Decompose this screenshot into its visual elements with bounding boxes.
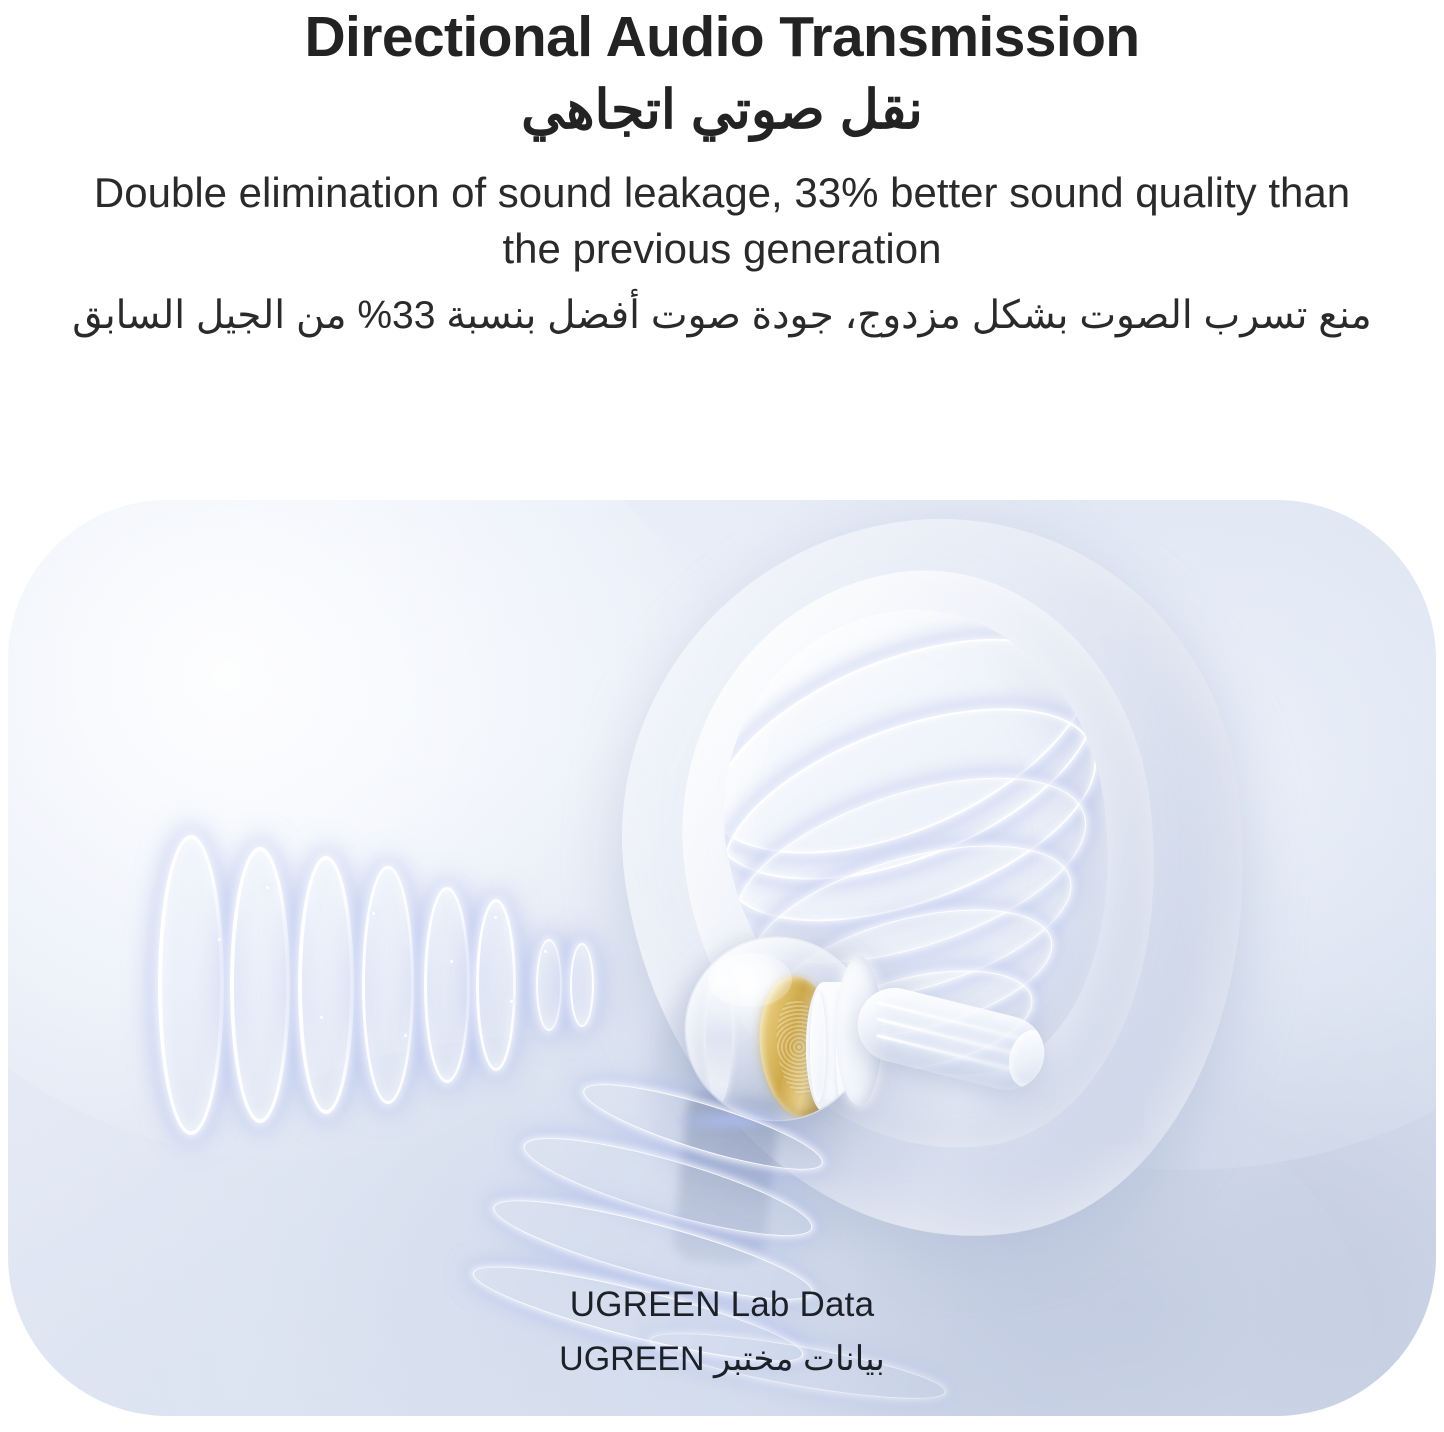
sparkle-particle [544,950,547,953]
sparkle-particle [494,916,497,919]
nozzle-highlight-1 [876,1001,1022,1040]
feature-slide: Directional Audio Transmission نقل صوتي … [0,0,1444,1432]
caption-english: UGREEN Lab Data [8,1280,1436,1331]
sound-ring-4 [362,866,414,1104]
sparkle-particle [404,1034,407,1037]
page-title-english: Directional Audio Transmission [30,4,1414,71]
sound-ring-6 [476,899,516,1071]
earbud-inner-rim [706,972,732,1104]
sound-ring-1 [158,835,224,1135]
sound-ring-5 [424,887,470,1083]
caption-block: UGREEN Lab Data بيانات مختبر UGREEN [8,1280,1436,1384]
sound-ring-2 [230,847,290,1123]
sparkle-particle [320,1016,323,1019]
nozzle-highlight-2 [876,1017,1018,1055]
caption-arabic: بيانات مختبر UGREEN [8,1335,1436,1384]
sparkle-particle [510,1000,513,1003]
sparkle-particle [450,960,453,963]
sound-nozzle [850,980,1052,1098]
page-subtitle-arabic: منع تسرب الصوت بشكل مزدوج، جودة صوت أفضل… [30,289,1414,342]
illustration-panel: UGREEN Lab Data بيانات مختبر UGREEN [8,500,1436,1416]
sparkle-particle [218,938,221,941]
page-title-arabic: نقل صوتي اتجاهي [30,75,1414,145]
sound-ring-3 [298,856,354,1114]
header-text-block: Directional Audio Transmission نقل صوتي … [0,0,1444,342]
sound-ring-8 [570,943,594,1027]
earbud-ridge-1 [810,992,826,1102]
page-subtitle-english: Double elimination of sound leakage, 33%… [30,165,1414,277]
nozzle-highlight-3 [876,1034,1011,1070]
sparkle-particle [372,912,375,915]
sound-ring-7 [536,939,562,1031]
sparkle-particle [266,886,269,889]
